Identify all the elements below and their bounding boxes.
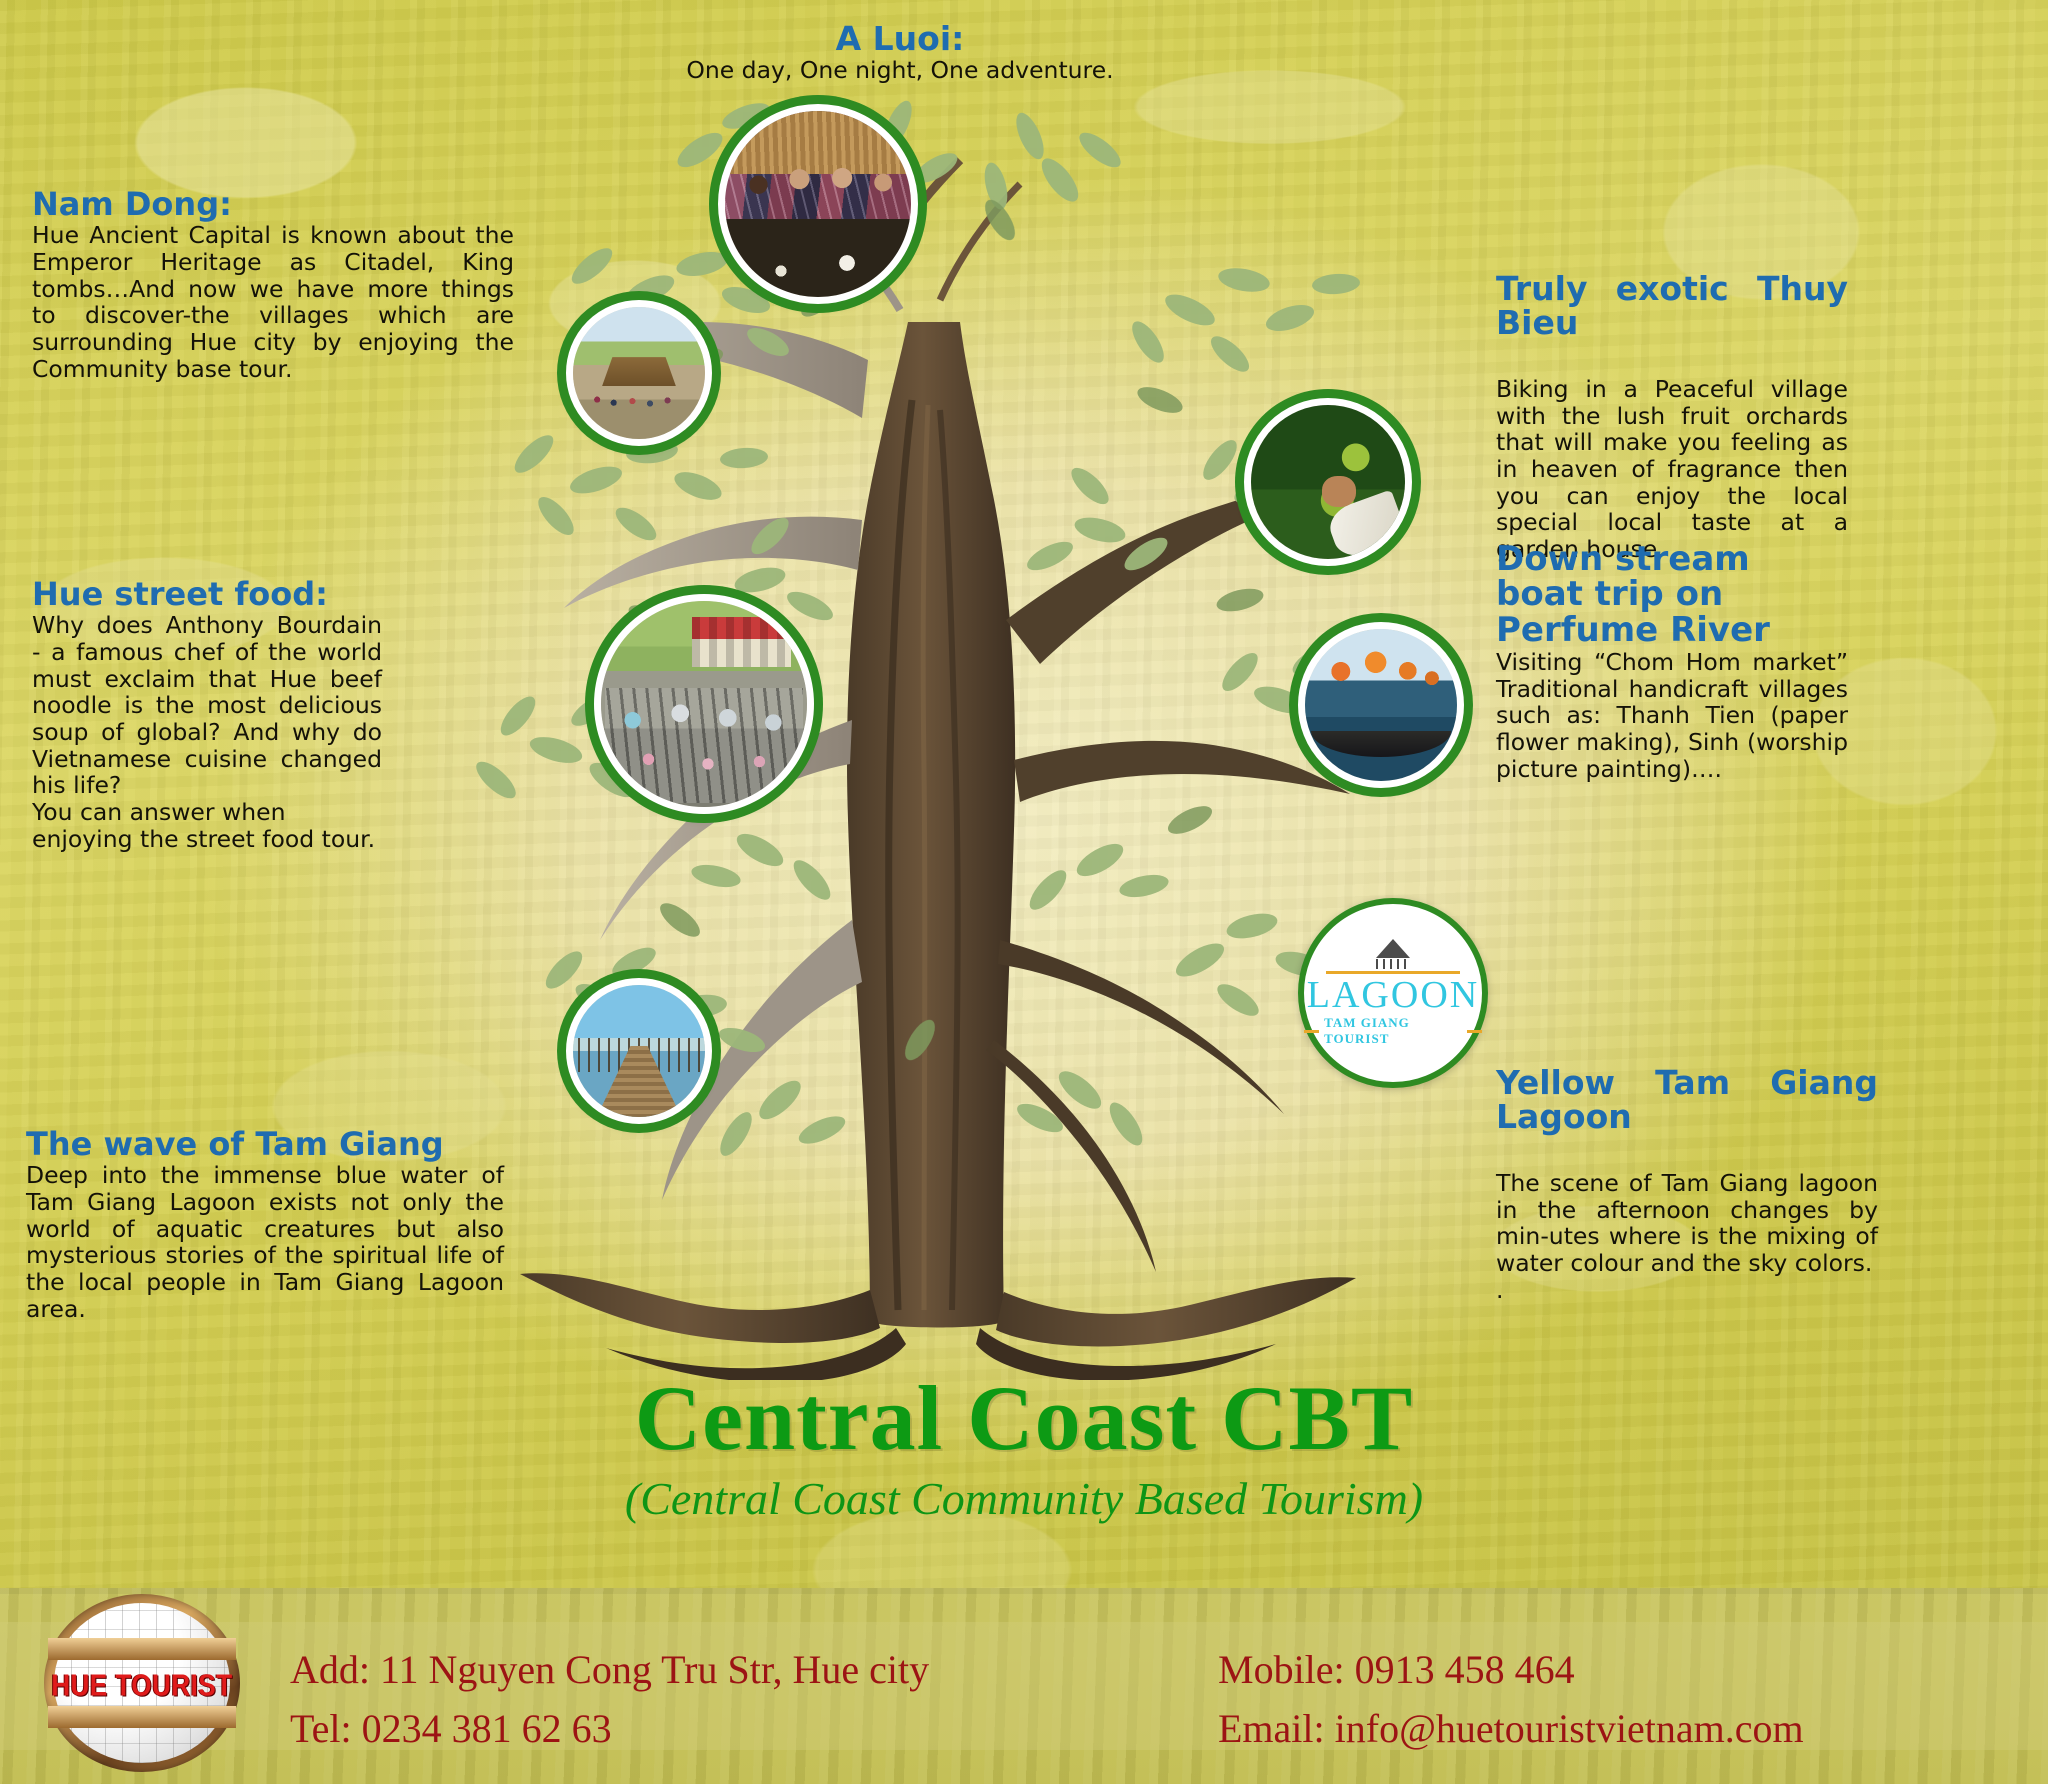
photo-a-luoi-ethnic-women-drinking bbox=[718, 104, 918, 304]
body-tam-giang-lagoon: The scene of Tam Giang lagoon in the aft… bbox=[1496, 1170, 1878, 1277]
logo-tagline: TAM GIANG TOURIST bbox=[1324, 1015, 1462, 1047]
heading-nam-dong: Nam Dong: bbox=[32, 188, 514, 221]
globe-band-top bbox=[48, 1638, 236, 1660]
text-block-nam-dong: Nam Dong: Hue Ancient Capital is known a… bbox=[32, 188, 514, 382]
body-nam-dong: Hue Ancient Capital is known about the E… bbox=[32, 222, 514, 382]
photo-tam-giang-lagoon-pier bbox=[566, 978, 712, 1124]
title-area: Central Coast CBT (Central Coast Communi… bbox=[0, 1372, 2048, 1525]
text-block-tam-giang-lagoon: Yellow Tam Giang Lagoon The scene of Tam… bbox=[1496, 1066, 1878, 1303]
body-a-luoi: One day, One night, One adventure. bbox=[640, 57, 1160, 84]
footer-contact-right: Mobile: 0913 458 464 Email: info@huetour… bbox=[1218, 1640, 1804, 1758]
logo-wordmark: LAGOON bbox=[1307, 976, 1479, 1014]
body-wave-of-tam-giang: Deep into the immense blue water of Tam … bbox=[26, 1162, 504, 1322]
poster-canvas: LAGOON TAM GIANG TOURIST A Luoi: One day… bbox=[0, 0, 2048, 1784]
body2-hue-street-food: You can answer when enjoying the street … bbox=[32, 799, 382, 852]
footer-bar: HUE TOURIST Add: 11 Nguyen Cong Tru Str,… bbox=[0, 1588, 2048, 1784]
heading-wave-of-tam-giang: The wave of Tam Giang bbox=[26, 1128, 504, 1161]
photo-thuy-bieu-pomelo-harvest bbox=[1244, 398, 1412, 566]
text-block-hue-street-food: Hue street food: Why does Anthony Bourda… bbox=[32, 578, 382, 852]
globe-band-bottom bbox=[48, 1706, 236, 1728]
photo-perfume-river-boat-flowers bbox=[1298, 622, 1464, 788]
body-hue-street-food: Why does Anthony Bourdain - a famous che… bbox=[32, 612, 382, 799]
footer-address: Add: 11 Nguyen Cong Tru Str, Hue city bbox=[290, 1640, 929, 1699]
footer-email: Email: info@huetouristvietnam.com bbox=[1218, 1699, 1804, 1758]
text-block-thuy-bieu: Truly exotic Thuy Bieu Biking in a Peace… bbox=[1496, 272, 1848, 563]
photo-nam-dong-village-communal-house bbox=[566, 300, 712, 446]
footer-mobile: Mobile: 0913 458 464 bbox=[1218, 1640, 1804, 1699]
page-title: Central Coast CBT bbox=[0, 1372, 2048, 1464]
logo-dash-right bbox=[1467, 1030, 1482, 1033]
heading-perfume-river: Down stream boat trip on Perfume River bbox=[1496, 542, 1848, 648]
body-thuy-bieu: Biking in a Peaceful village with the lu… bbox=[1496, 376, 1848, 563]
logo-tagline-row: TAM GIANG TOURIST bbox=[1304, 1015, 1482, 1047]
heading-hue-street-food: Hue street food: bbox=[32, 578, 382, 611]
heading-a-luoi: A Luoi: bbox=[640, 22, 1160, 56]
hue-tourist-brand-text: HUE TOURIST bbox=[44, 1667, 240, 1704]
heading-tam-giang-lagoon: Yellow Tam Giang Lagoon bbox=[1496, 1066, 1878, 1169]
text-block-a-luoi: A Luoi: One day, One night, One adventur… bbox=[640, 22, 1160, 84]
body-perfume-river: Visiting “Chom Hom market” Traditional h… bbox=[1496, 649, 1848, 782]
body2-tam-giang-lagoon: . bbox=[1496, 1277, 1878, 1304]
page-subtitle: (Central Coast Community Based Tourism) bbox=[0, 1472, 2048, 1525]
photo-hue-street-cyclo-tour bbox=[594, 594, 814, 814]
footer-tel: Tel: 0234 381 62 63 bbox=[290, 1699, 929, 1758]
text-block-perfume-river: Down stream boat trip on Perfume River V… bbox=[1496, 542, 1848, 782]
footer-contact-left: Add: 11 Nguyen Cong Tru Str, Hue city Te… bbox=[290, 1640, 929, 1758]
lagoon-tam-giang-tourist-logo[interactable]: LAGOON TAM GIANG TOURIST bbox=[1298, 898, 1488, 1088]
hue-tourist-logo[interactable]: HUE TOURIST bbox=[44, 1594, 240, 1772]
text-block-wave-of-tam-giang: The wave of Tam Giang Deep into the imme… bbox=[26, 1128, 504, 1322]
stilts-icon bbox=[1376, 959, 1410, 969]
heading-thuy-bieu: Truly exotic Thuy Bieu bbox=[1496, 272, 1848, 375]
logo-dash-left bbox=[1304, 1030, 1319, 1033]
stilt-house-icon bbox=[1376, 939, 1410, 958]
